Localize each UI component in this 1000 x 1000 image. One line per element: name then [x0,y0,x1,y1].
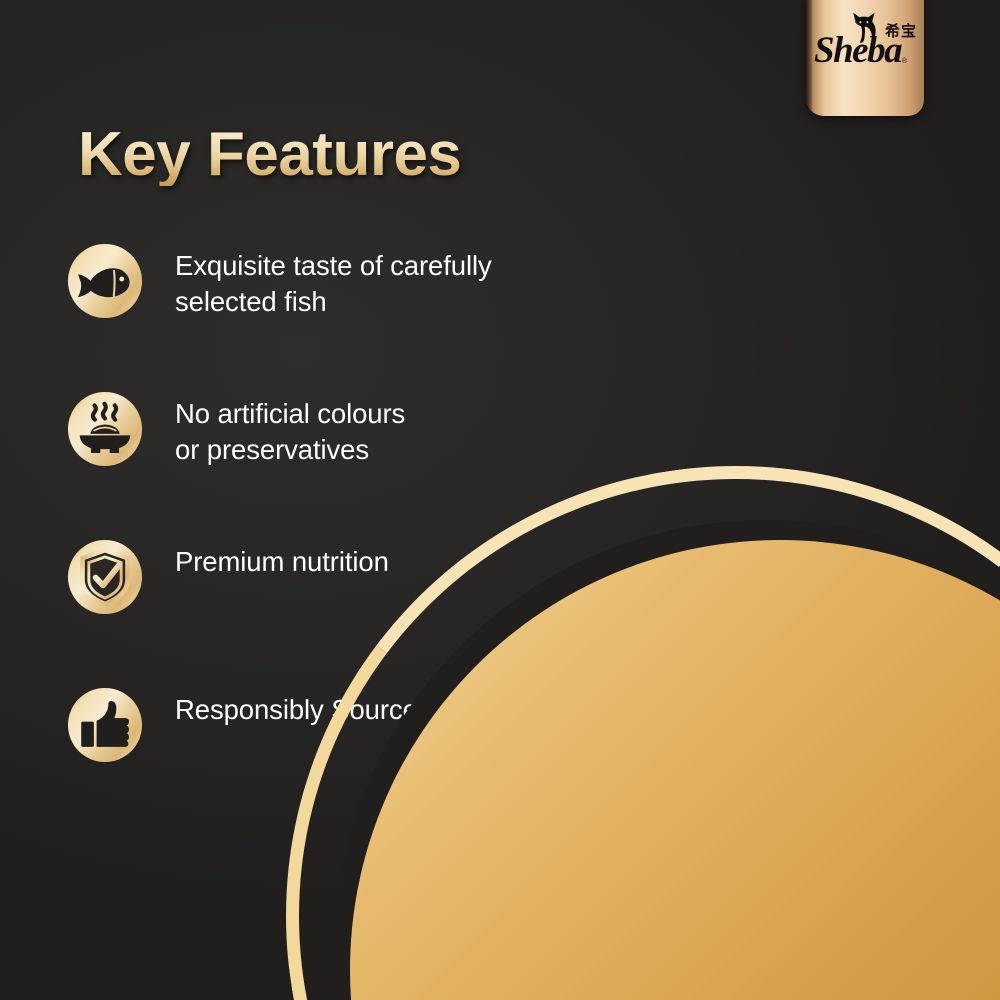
feature-label-responsibly-sourced: Responsibly Sourced [175,692,433,728]
feature-item-fish: Exquisite taste of carefully selected fi… [66,242,686,390]
feature-item-premium-nutrition: Premium nutrition [66,538,686,686]
sheba-cjk-name: 希宝 [885,24,917,39]
registered-trademark-mark: ® [902,58,907,65]
feature-item-no-artificial-colours: No artificial colours or preservatives [66,390,686,538]
feature-label-premium-nutrition: Premium nutrition [175,544,389,580]
feature-item-responsibly-sourced: Responsibly Sourced [66,686,686,834]
feature-list: Exquisite taste of carefully selected fi… [66,242,686,834]
feature-label-no-artificial-colours: No artificial colours or preservatives [175,396,405,468]
sheba-logo: Sheba ® 希宝 [806,8,924,86]
feature-label-fish: Exquisite taste of carefully selected fi… [175,248,492,320]
sheba-product-pouch: Sheba ® 希宝 [806,0,924,116]
sheba-key-features-poster: Sheba ® 希宝 Key Features [0,0,1000,1000]
shield-check-icon [66,538,144,616]
fish-icon [66,242,144,320]
steaming-bowl-icon [66,390,144,468]
thumbs-up-icon [66,686,144,764]
page-title: Key Features [78,124,461,186]
